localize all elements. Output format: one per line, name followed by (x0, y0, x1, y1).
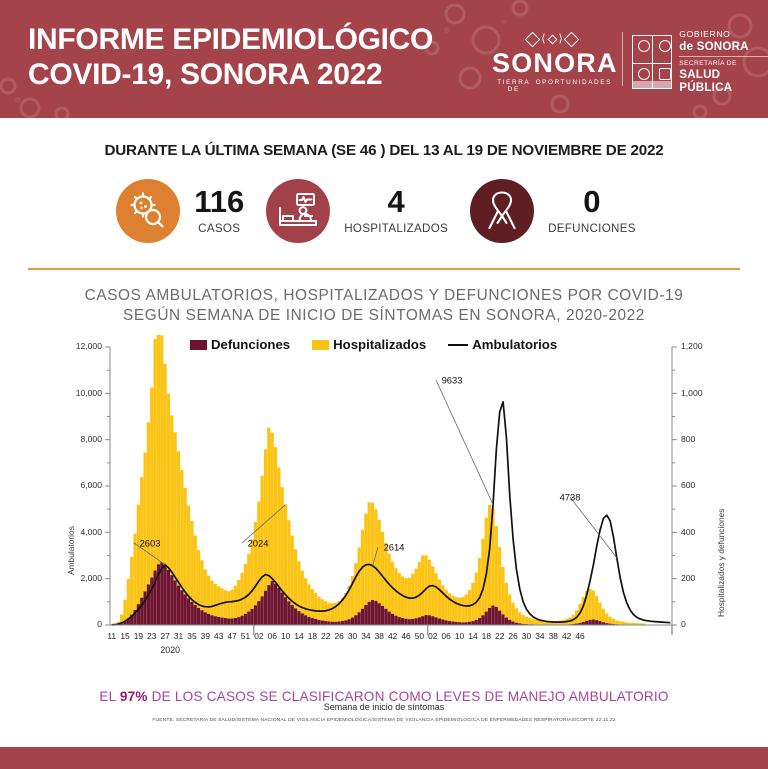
x-tick: 22 (495, 631, 504, 641)
virus-magnifier-icon (116, 179, 180, 243)
x-tick: 31 (174, 631, 183, 641)
stats-row: 116 CASOS (0, 179, 768, 243)
week-summary-section: DURANTE LA ÚLTIMA SEMANA (SE 46 ) DEL 13… (0, 118, 768, 270)
x-tick: 14 (294, 631, 303, 641)
hospital-bed-patient-icon (266, 179, 330, 243)
x-tick: 22 (321, 631, 330, 641)
coat-of-arms-shield-icon (632, 35, 672, 89)
hospital-bed-glyph (276, 191, 320, 231)
footer-band (0, 747, 768, 769)
stat-defunciones: 0 DEFUNCIONES (470, 179, 658, 243)
legend-swatch (448, 344, 468, 346)
chart-canvas (0, 335, 768, 635)
sonora-tagline-right: OPORTUNIDADES (536, 79, 612, 93)
diamond-shape (547, 35, 557, 45)
chart-annotation: 9633 (442, 375, 463, 386)
diamond-shape (525, 32, 541, 48)
x-tick: 43 (214, 631, 223, 641)
x-tick: 38 (549, 631, 558, 641)
x-tick: 06 (268, 631, 277, 641)
chart-legend: DefuncionesHospitalizadosAmbulatorios (190, 337, 557, 352)
x-tick: 42 (388, 631, 397, 641)
salud-publica-label: SALUD PÚBLICA (679, 68, 768, 95)
source-footnote: FUENTE: SECRETARIA DE SALUD/SISTEMA NACI… (0, 718, 768, 723)
legend-item-ambulatorios[interactable]: Ambulatorios (448, 337, 557, 352)
x-tick: 50 (415, 631, 424, 641)
x-tick: 34 (535, 631, 544, 641)
sonora-state-label: de SONORA (679, 40, 768, 53)
secretaria-label: SECRETARÍA DE (679, 60, 768, 68)
sonora-logo-tagline: TIERRA DE OPORTUNIDADES (492, 79, 612, 93)
chart-annotation: 2603 (140, 538, 161, 549)
gobierno-sonora-logo: GOBIERNO de SONORA SECRETARÍA DE SALUD P… (632, 30, 768, 94)
x-tick: 35 (187, 631, 196, 641)
gobierno-label: GOBIERNO (679, 30, 768, 40)
x-tick: 02 (428, 631, 437, 641)
hospitalizados-value: 4 (344, 187, 448, 216)
x-tick: 26 (508, 631, 517, 641)
x-tick: 19 (134, 631, 143, 641)
week-summary-title: DURANTE LA ÚLTIMA SEMANA (SE 46 ) DEL 13… (0, 118, 768, 159)
page-title: INFORME EPIDEMIOLÓGICO COVID-19, SONORA … (28, 22, 433, 92)
sonora-logo-word: SONORA (492, 49, 612, 77)
infographic-page: INFORME EPIDEMIOLÓGICO COVID-19, SONORA … (0, 0, 768, 769)
virus-magnifier-glyph (127, 190, 169, 232)
x-tick: 23 (147, 631, 156, 641)
chart-plot-area: Ambulatorios Hospitalizados y defuncione… (0, 335, 768, 665)
legend-swatch (312, 340, 329, 350)
x-tick: 18 (308, 631, 317, 641)
awareness-ribbon-icon (470, 179, 534, 243)
x-tick: 02 (254, 631, 263, 641)
x-tick: 06 (442, 631, 451, 641)
sonora-logo: ⟨ ⟩ SONORA TIERRA DE OPORTUNIDADES (492, 30, 612, 93)
x-tick: 46 (401, 631, 410, 641)
page-header: INFORME EPIDEMIOLÓGICO COVID-19, SONORA … (0, 0, 768, 118)
chart-annotation: 2024 (248, 538, 269, 549)
stat-hospitalizados: 4 HOSPITALIZADOS (266, 179, 470, 243)
chart-title: CASOS AMBULATORIOS, HOSPITALIZADOS Y DEF… (0, 286, 768, 325)
x-tick: 15 (120, 631, 129, 641)
x-tick: 39 (201, 631, 210, 641)
x-tick: 46 (575, 631, 584, 641)
legend-label: Ambulatorios (472, 337, 557, 352)
defunciones-label: DEFUNCIONES (548, 222, 636, 235)
x-tick: 10 (281, 631, 290, 641)
hospitalizados-label: HOSPITALIZADOS (344, 222, 448, 235)
casos-label: CASOS (194, 222, 244, 235)
chevron-right-icon: ⟩ (559, 34, 563, 45)
x-tick: 30 (348, 631, 357, 641)
x-tick: 51 (241, 631, 250, 641)
x-tick: 18 (482, 631, 491, 641)
legend-item-defunciones[interactable]: Defunciones (190, 337, 290, 352)
chevron-left-icon: ⟨ (541, 34, 545, 45)
x-axis-year-label: 2020 (160, 645, 180, 655)
sonora-tagline-left: TIERRA DE (492, 79, 536, 93)
defunciones-value: 0 (548, 187, 636, 216)
legend-label: Hospitalizados (333, 337, 426, 352)
legend-label: Defunciones (211, 337, 290, 352)
legend-swatch (190, 340, 207, 350)
sonora-logo-diamond-pattern: ⟨ ⟩ (492, 30, 612, 49)
x-axis-title: Semana de inicio de síntomas (0, 702, 768, 712)
ribbon-glyph (483, 190, 521, 232)
casos-value: 116 (194, 187, 244, 216)
x-tick: 27 (161, 631, 170, 641)
x-tick: 11 (107, 631, 116, 641)
logo-divider (622, 32, 623, 86)
chart-section: CASOS AMBULATORIOS, HOSPITALIZADOS Y DEF… (0, 270, 768, 769)
x-tick: 47 (227, 631, 236, 641)
x-tick: 34 (361, 631, 370, 641)
x-tick: 42 (562, 631, 571, 641)
stat-casos: 116 CASOS (116, 179, 266, 243)
legend-item-hospitalizados[interactable]: Hospitalizados (312, 337, 426, 352)
chart-annotation: 2614 (384, 542, 405, 553)
x-tick: 26 (334, 631, 343, 641)
x-tick: 38 (375, 631, 384, 641)
chart-annotation: 4738 (560, 492, 581, 503)
gob-text-divider (679, 56, 768, 57)
x-tick: 10 (455, 631, 464, 641)
x-tick: 30 (522, 631, 531, 641)
x-tick: 14 (468, 631, 477, 641)
diamond-shape (564, 32, 580, 48)
